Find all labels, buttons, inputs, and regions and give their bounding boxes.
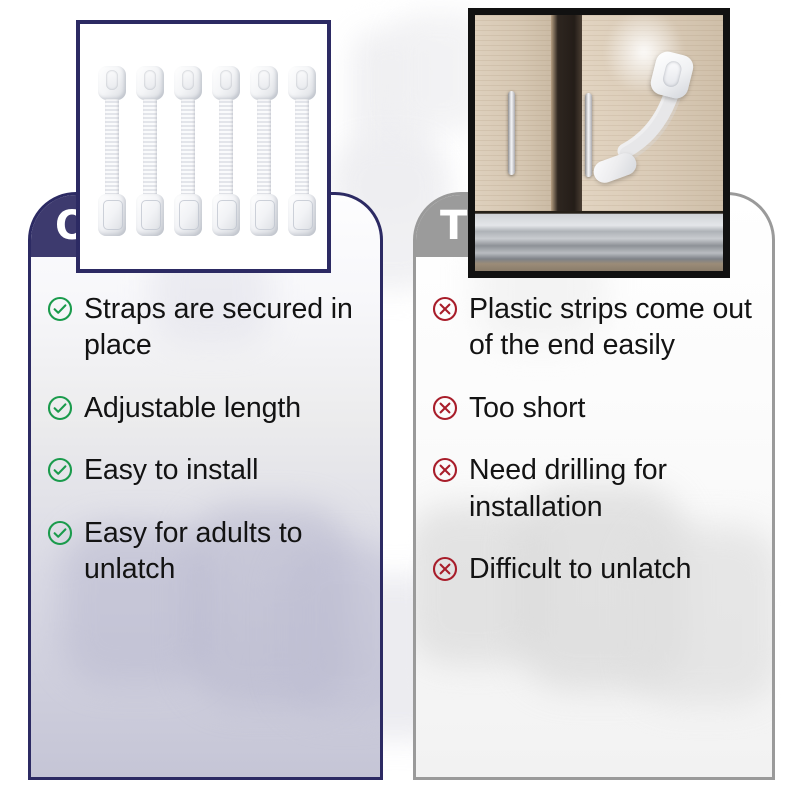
strap-lock-product — [174, 66, 202, 236]
x-circle-icon — [432, 296, 458, 322]
feature-text: Straps are secured in place — [84, 291, 362, 364]
feature-text: Adjustable length — [84, 390, 301, 426]
strap-lock-product — [288, 66, 316, 236]
cabinet-door-gap — [551, 15, 582, 211]
strap-lock-product — [136, 66, 164, 236]
list-item: Need drilling for installation — [432, 452, 754, 525]
product-image-theirs — [468, 8, 730, 278]
feature-text: Need drilling for installation — [469, 452, 754, 525]
check-circle-icon — [47, 520, 73, 546]
feature-text: Easy to install — [84, 452, 258, 488]
x-circle-icon — [432, 457, 458, 483]
list-item: Difficult to unlatch — [432, 551, 754, 587]
cabinet-floor-rail — [475, 211, 723, 271]
cabinet-handle — [508, 91, 515, 175]
product-image-ours — [76, 20, 331, 273]
strap-lock-product — [98, 66, 126, 236]
comparison-panel-ours: OURS Straps are secured in place Adjusta… — [28, 192, 383, 780]
list-item: Plastic strips come out of the end easil… — [432, 291, 754, 364]
check-circle-icon — [47, 296, 73, 322]
check-circle-icon — [47, 457, 73, 483]
x-circle-icon — [432, 395, 458, 421]
feature-text: Easy for adults to unlatch — [84, 515, 362, 588]
list-item: Easy for adults to unlatch — [47, 515, 362, 588]
strap-lock-product — [250, 66, 278, 236]
feature-text: Plastic strips come out of the end easil… — [469, 291, 754, 364]
strap-lock-product — [212, 66, 240, 236]
list-item: Too short — [432, 390, 754, 426]
list-item: Straps are secured in place — [47, 291, 362, 364]
feature-text: Too short — [469, 390, 585, 426]
feature-list-ours: Straps are secured in place Adjustable l… — [31, 291, 380, 614]
feature-text: Difficult to unlatch — [469, 551, 691, 587]
list-item: Easy to install — [47, 452, 362, 488]
check-circle-icon — [47, 395, 73, 421]
feature-list-theirs: Plastic strips come out of the end easil… — [416, 291, 772, 614]
cabinet-handle — [585, 93, 592, 177]
comparison-panel-theirs: THEIRS Plastic strips come out of the en… — [413, 192, 775, 780]
list-item: Adjustable length — [47, 390, 362, 426]
x-circle-icon — [432, 556, 458, 582]
